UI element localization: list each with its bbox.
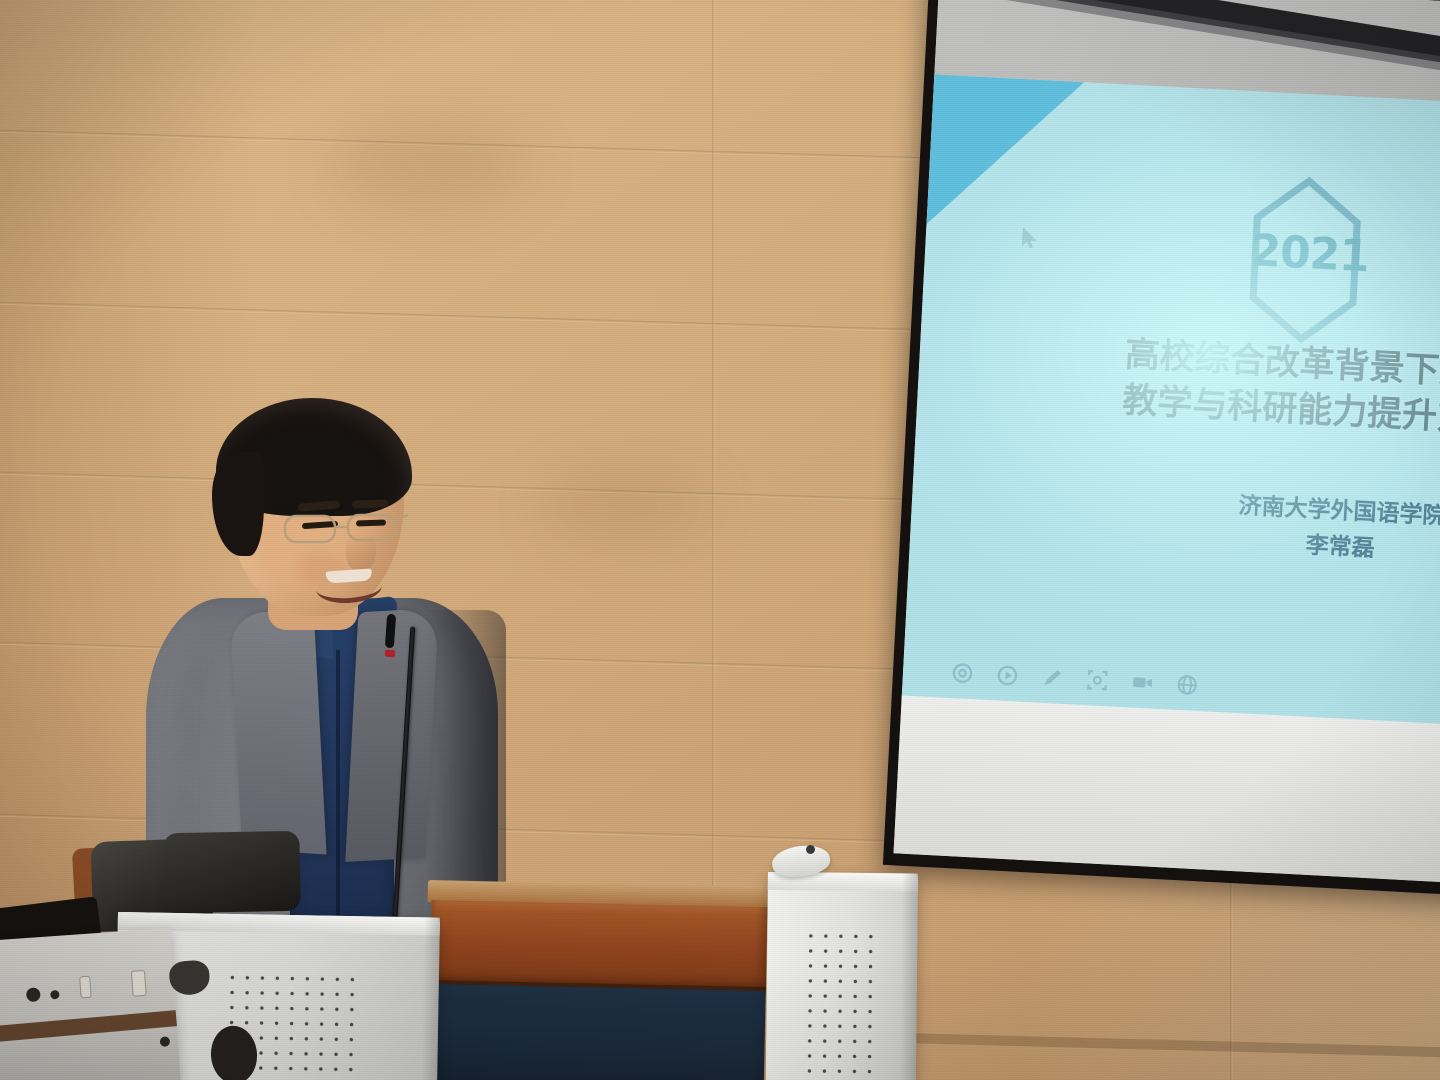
settings-gear-icon[interactable]: [950, 661, 974, 685]
rack-port[interactable]: [50, 990, 60, 1000]
play-circle-icon[interactable]: [995, 663, 1019, 687]
slide-corner-triangle: [926, 74, 1084, 232]
presentation-slide[interactable]: 2021 高校综合改革背景下外语 教学与科研能力提升对策 济南大学外国语学院 李…: [901, 74, 1440, 735]
slide-subtitle: 济南大学外国语学院 李常磊: [1149, 484, 1440, 575]
mouse-pointer-icon: [1021, 227, 1037, 250]
lectern: [424, 880, 776, 1080]
loudspeaker-edge-shadow: [900, 873, 918, 1080]
rack-knob[interactable]: [79, 976, 92, 999]
screen-surface: 2021 高校综合改革背景下外语 教学与科研能力提升对策 济南大学外国语学院 李…: [894, 0, 1440, 885]
crop-frame-icon[interactable]: [1085, 668, 1109, 692]
slide-toolbar[interactable]: [950, 661, 1199, 697]
lecture-hall-scene: 2021 高校综合改革背景下外语 教学与科研能力提升对策 济南大学外国语学院 李…: [0, 0, 1440, 1080]
presenter-shirt-placket: [336, 650, 340, 950]
lectern-base-panel: [428, 984, 766, 1080]
pencil-icon[interactable]: [1040, 666, 1064, 690]
presenter-hair-side: [212, 452, 264, 556]
presenter-nose: [346, 532, 376, 572]
audio-rack-unit: [0, 928, 181, 1080]
eyeglasses-icon: [282, 506, 408, 550]
globe-icon[interactable]: [1175, 673, 1199, 697]
dark-equipment-object: [163, 831, 300, 913]
loudspeaker-grille: [802, 928, 882, 1080]
rack-port[interactable]: [26, 987, 41, 1002]
presenter-lapel-left: [229, 609, 326, 854]
rack-knob[interactable]: [131, 970, 147, 997]
loudspeaker-edge-shadow: [421, 917, 440, 1080]
wall-smudge: [330, 120, 530, 210]
video-camera-icon[interactable]: [1130, 671, 1154, 695]
rack-trim-stripe: [0, 1010, 177, 1042]
rack-port[interactable]: [160, 1036, 171, 1047]
right-loudspeaker: [766, 872, 918, 1080]
wall-smudge: [540, 470, 710, 540]
screen-bottom-band: [894, 696, 1440, 885]
lectern-wood-panel: [430, 900, 768, 991]
desk-microphone-capsule: [806, 845, 815, 854]
projection-screen: 2021 高校综合改革背景下外语 教学与科研能力提升对策 济南大学外国语学院 李…: [883, 0, 1440, 897]
slide-year-badge: 2021: [1249, 225, 1362, 282]
slide-title: 高校综合改革背景下外语 教学与科研能力提升对策: [1121, 333, 1440, 449]
microphone-status-indicator: [385, 650, 395, 658]
